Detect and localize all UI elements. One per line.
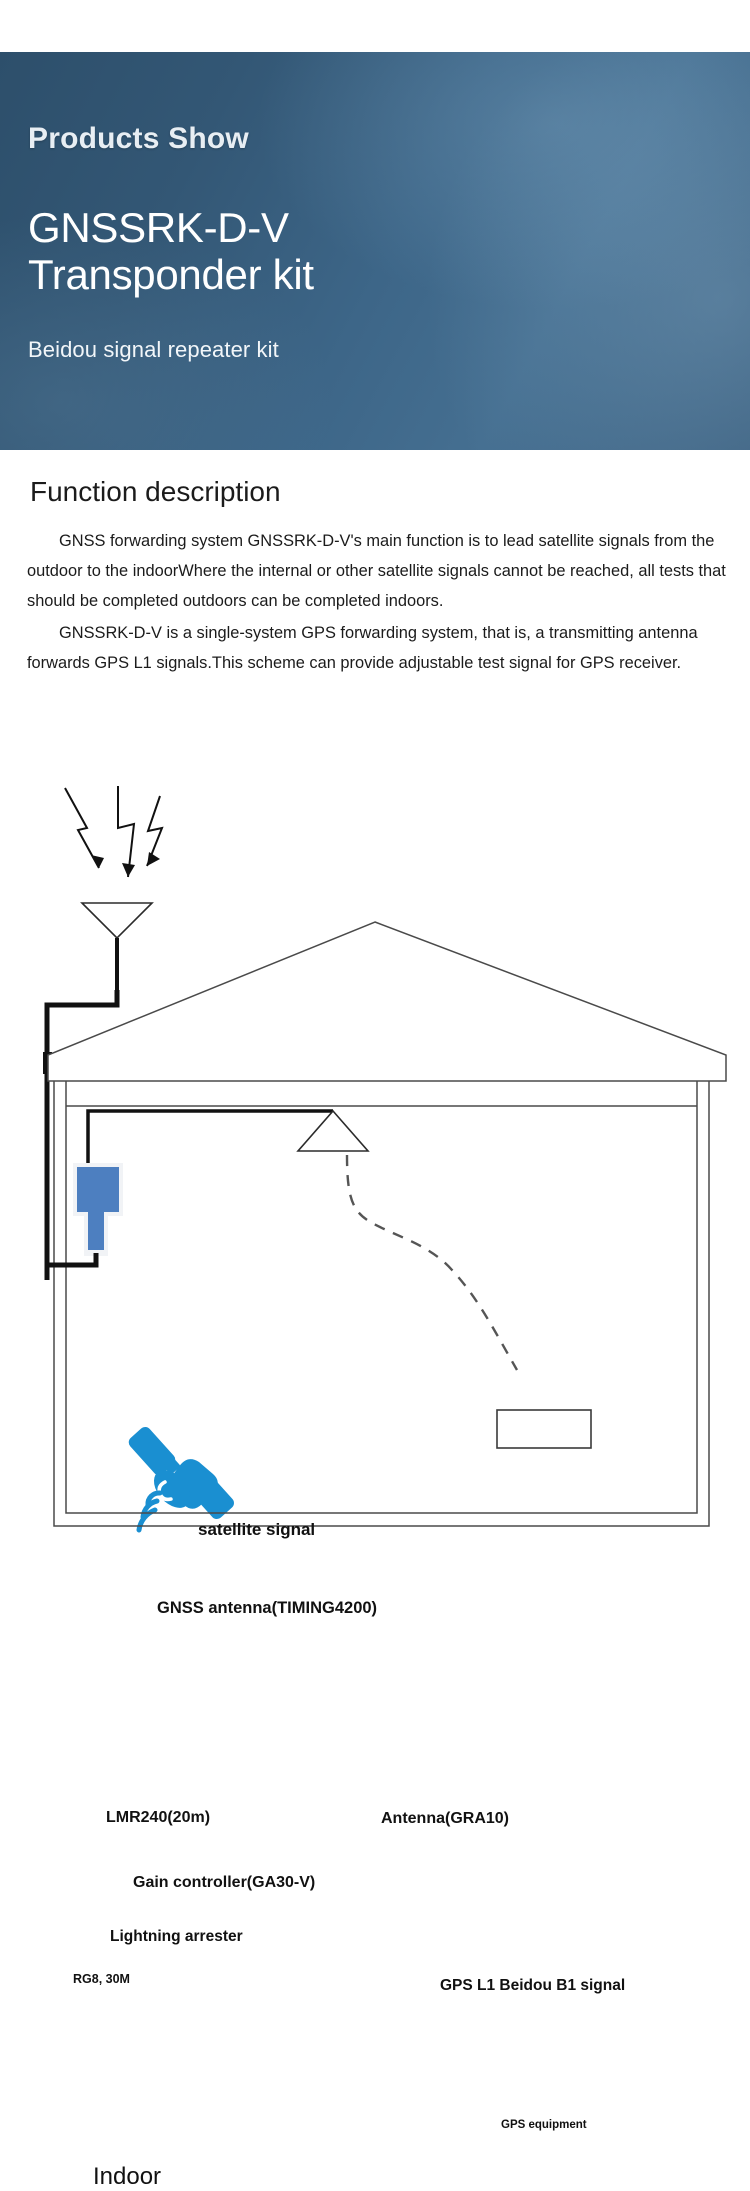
page-title: GNSSRK-D-V Transponder kit	[28, 204, 458, 298]
system-diagram: satellite signal GNSS antenna(TIMING4200…	[0, 700, 750, 1540]
label-gps-equipment: GPS equipment	[501, 2119, 587, 2131]
label-gps-l1-signal: GPS L1 Beidou B1 signal	[440, 1977, 625, 1995]
hero-content: Products Show GNSSRK-D-V Transponder kit…	[28, 52, 750, 450]
description-paragraph-2: GNSSRK-D-V is a single-system GPS forwar…	[27, 618, 727, 678]
section-heading: Function description	[30, 476, 281, 508]
lmr240-cable	[88, 1111, 333, 1180]
hero-banner: Products Show GNSSRK-D-V Transponder kit…	[0, 52, 750, 450]
hero-subtitle-text: Beidou signal repeater kit	[28, 337, 279, 363]
label-lmr240-cable: LMR240(20m)	[106, 1809, 210, 1827]
satellite-icon	[126, 1424, 236, 1530]
gps-equipment-box-icon	[497, 1410, 591, 1448]
gain-controller-box-icon	[73, 1163, 123, 1216]
rf-signal-path	[347, 1155, 517, 1370]
hero-eyebrow-text: Products Show	[28, 122, 249, 156]
house-roof	[48, 922, 726, 1081]
lightning-arrester-icon	[84, 1212, 108, 1256]
antenna-triangle-icon	[82, 903, 152, 990]
description-paragraph-1: GNSS forwarding system GNSSRK-D-V's main…	[27, 526, 727, 616]
label-gain-controller: Gain controller(GA30-V)	[133, 1874, 315, 1892]
label-lightning-arrester: Lightning arrester	[110, 1928, 243, 1946]
indoor-antenna-triangle-icon	[298, 1111, 368, 1151]
label-indoor: Indoor	[93, 2163, 161, 2191]
label-gnss-antenna: GNSS antenna(TIMING4200)	[157, 1599, 377, 1618]
signal-arrow-icon	[65, 786, 162, 877]
label-antenna-gra10: Antenna(GRA10)	[381, 1810, 509, 1828]
label-satellite-signal: satellite signal	[198, 1520, 315, 1540]
label-rg8-cable: RG8, 30M	[73, 1972, 130, 1986]
